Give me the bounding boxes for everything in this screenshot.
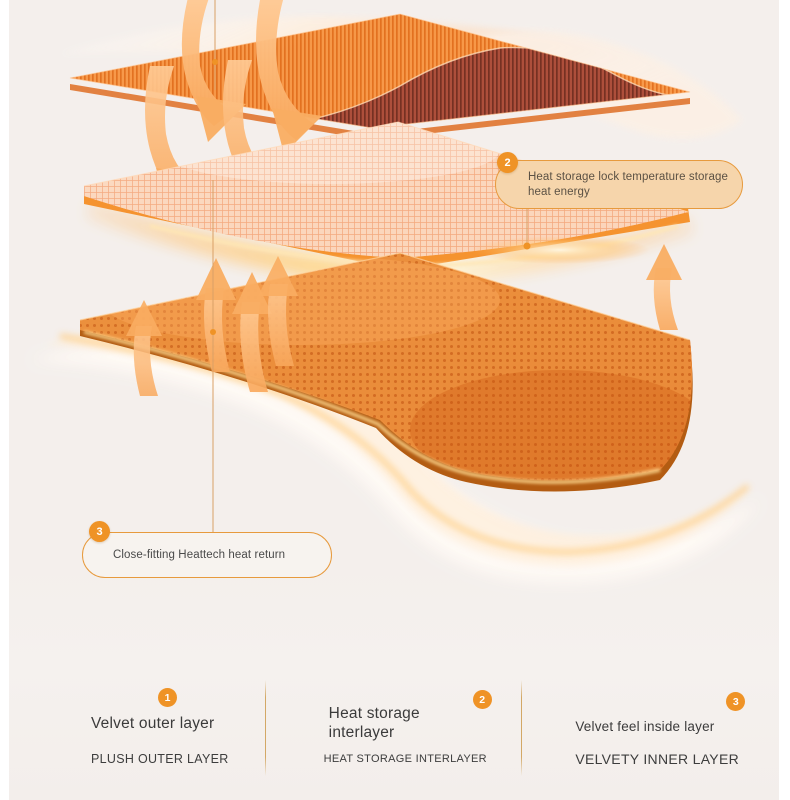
legend-subtitle-1: PLUSH OUTER LAYER — [91, 752, 229, 766]
legend-title-3: Velvet feel inside layer — [575, 717, 714, 736]
callout-close-fitting-text: Close-fitting Heattech heat return — [113, 548, 285, 563]
legend-subtitle-2: HEAT STORAGE INTERLAYER — [324, 753, 487, 765]
callout-badge-2: 2 — [497, 152, 518, 173]
legend-item-heat-storage[interactable]: 2 Heat storage interlayer HEAT STORAGE I… — [266, 672, 523, 792]
callout-close-fitting[interactable]: Close-fitting Heattech heat return — [82, 532, 332, 578]
legend-item-velvety-inner[interactable]: 3 Velvet feel inside layer VELVETY INNER… — [522, 672, 779, 792]
layer-legend: 1 Velvet outer layer PLUSH OUTER LAYER 2… — [9, 672, 779, 792]
legend-item-velvet-outer[interactable]: 1 Velvet outer layer PLUSH OUTER LAYER — [9, 672, 266, 792]
callout-badge-3: 3 — [89, 521, 110, 542]
legend-badge-2: 2 — [473, 690, 492, 709]
legend-badge-1: 1 — [158, 688, 177, 707]
legend-subtitle-3: VELVETY INNER LAYER — [575, 751, 739, 767]
legend-title-1: Velvet outer layer — [91, 714, 214, 733]
legend-title-2: Heat storage interlayer — [329, 704, 459, 742]
callout-heat-storage[interactable]: Heat storage lock temperature storage he… — [495, 160, 743, 209]
callout-heat-storage-text: Heat storage lock temperature storage he… — [528, 170, 728, 200]
legend-badge-3: 3 — [726, 692, 745, 711]
product-detail-image: Heat storage lock temperature storage he… — [0, 0, 790, 800]
